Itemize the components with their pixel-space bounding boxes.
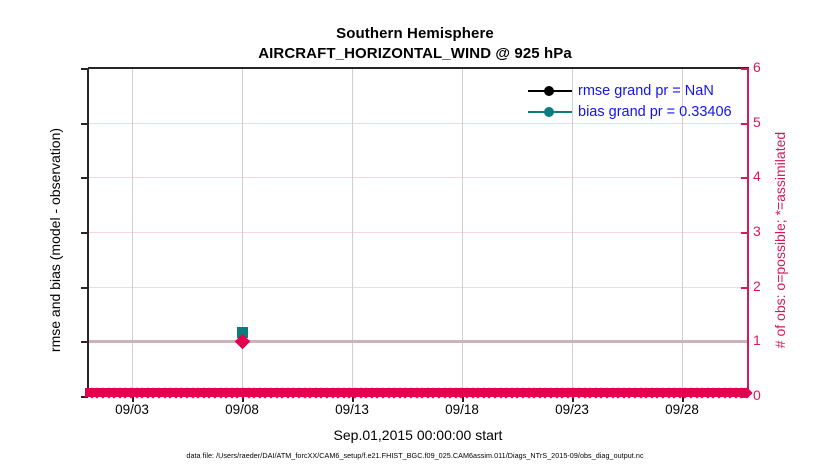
- gridline-horizontal: [89, 232, 747, 233]
- gridline-vertical: [462, 69, 463, 395]
- x-axis-title: Sep.01,2015 00:00:00 start: [88, 427, 748, 443]
- y-axis-right-tick: [741, 177, 748, 179]
- legend-item-rmse[interactable]: rmse grand pr = NaN: [528, 80, 748, 101]
- legend-label-bias: bias grand pr = 0.33406: [578, 104, 732, 120]
- y-axis-right-tick: [741, 287, 748, 289]
- observation-count-band: [89, 387, 747, 398]
- gridline-vertical: [352, 69, 353, 395]
- legend-marker-bias-icon: [528, 105, 572, 119]
- gridline-vertical: [132, 69, 133, 395]
- gridline-horizontal: [89, 287, 747, 288]
- y-axis-right-tick: [741, 232, 748, 234]
- y-axis-left-title: rmse and bias (model - observation): [47, 75, 63, 405]
- y-axis-right-tick-label: 6: [753, 59, 783, 75]
- x-axis-tick-label: 09/08: [202, 402, 282, 417]
- y-axis-left-tick: [81, 68, 88, 70]
- y-axis-left-tick: [81, 232, 88, 234]
- x-axis-tick-label: 09/28: [642, 402, 722, 417]
- legend-label-rmse: rmse grand pr = NaN: [578, 83, 714, 99]
- chart-title-block: Southern Hemisphere AIRCRAFT_HORIZONTAL_…: [0, 24, 830, 64]
- gridline-horizontal: [89, 123, 747, 124]
- chart-legend: rmse grand pr = NaN bias grand pr = 0.33…: [528, 80, 748, 122]
- x-axis-tick-label: 09/03: [92, 402, 172, 417]
- legend-item-bias[interactable]: bias grand pr = 0.33406: [528, 101, 748, 122]
- chart-title-subtitle: AIRCRAFT_HORIZONTAL_WIND @ 925 hPa: [0, 44, 830, 64]
- y-axis-left-tick: [81, 123, 88, 125]
- y-axis-left-tick: [81, 177, 88, 179]
- x-axis-tick-label: 09/18: [422, 402, 502, 417]
- y-axis-right-title: # of obs: o=possible; *=assimilated: [772, 75, 788, 405]
- chart-title-main: Southern Hemisphere: [0, 24, 830, 44]
- gridline-horizontal: [89, 177, 747, 178]
- y-axis-left-tick: [81, 287, 88, 289]
- axis-frame-top: [88, 67, 749, 69]
- zero-reference-line: [89, 340, 747, 343]
- y-axis-right-tick: [741, 123, 748, 125]
- y-axis-right-tick: [741, 68, 748, 70]
- data-file-path-note: data file: /Users/raeder/DAI/ATM_forcXX/…: [0, 451, 830, 460]
- legend-marker-rmse-icon: [528, 84, 572, 98]
- x-axis-tick-label: 09/13: [312, 402, 392, 417]
- y-axis-left-tick: [81, 341, 88, 343]
- x-axis-tick-label: 09/23: [532, 402, 612, 417]
